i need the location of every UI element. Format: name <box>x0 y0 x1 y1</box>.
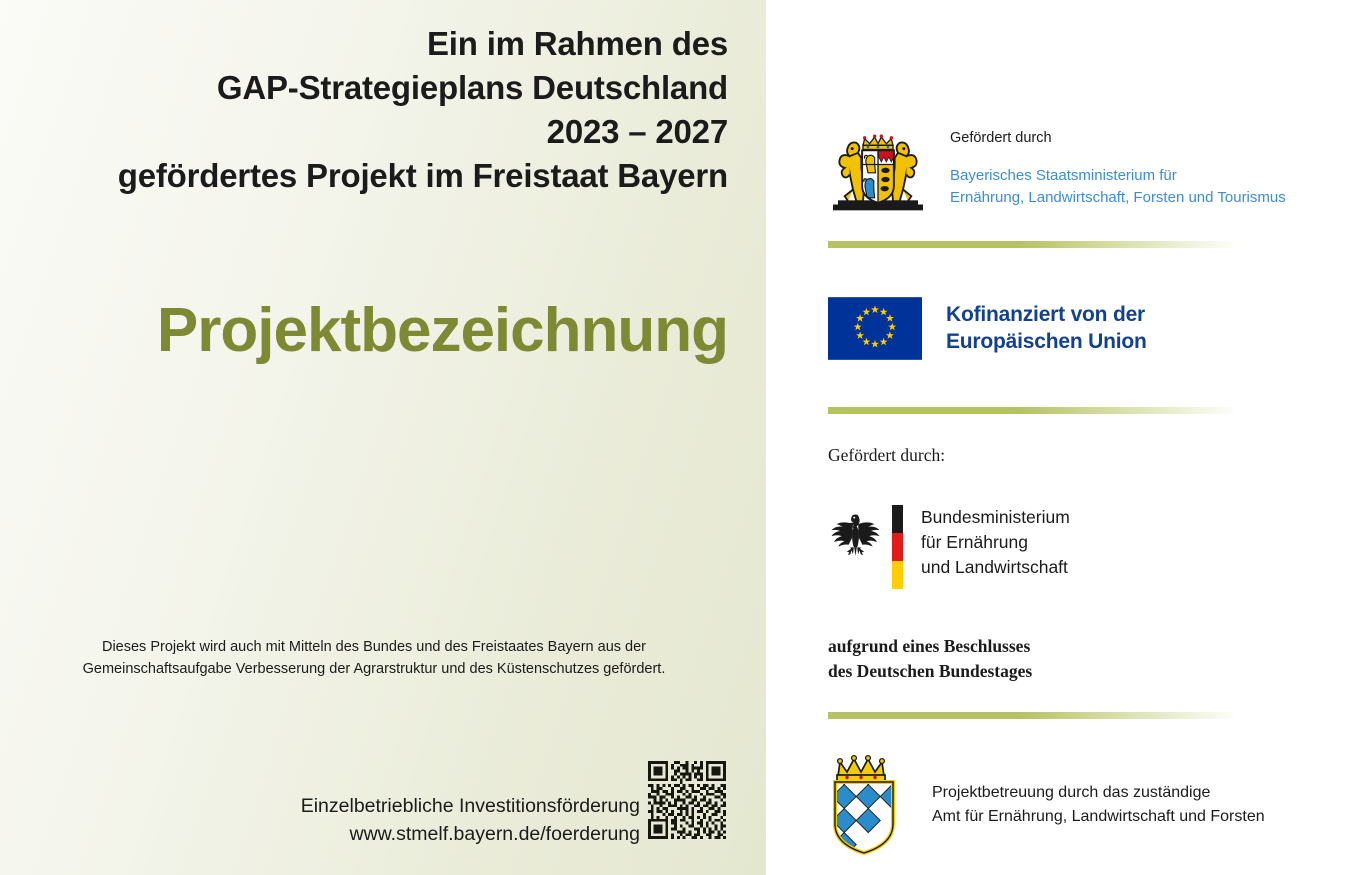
stmelf-name-line-1: Bayerisches Staatsministerium für <box>950 165 1286 186</box>
stmelf-text-group: Gefördert durch Bayerisches Staatsminist… <box>950 128 1286 208</box>
eu-text-line-2: Europäischen Union <box>946 329 1147 355</box>
divider-3 <box>828 712 1240 719</box>
headline-line-3: 2023 – 2027 <box>0 110 728 154</box>
project-title: Projektbezeichnung <box>0 300 728 362</box>
bmel-name-line-2: für Ernährung <box>921 530 1070 555</box>
aelf-text-line-1: Projektbetreuung durch das zuständige <box>932 781 1265 805</box>
divider-1 <box>828 241 1240 248</box>
german-flag-bar <box>892 505 903 589</box>
bmel-name-line-1: Bundesministerium <box>921 505 1070 530</box>
footer-programme-label: Einzelbetriebliche Investitionsförderung <box>0 793 640 821</box>
flag-stripe-black <box>892 505 903 533</box>
stmelf-name-line-2: Ernährung, Landwirtschaft, Forsten und T… <box>950 187 1286 208</box>
bmel-name-group: Bundesministerium für Ernährung und Land… <box>921 505 1070 580</box>
bavarian-state-coat-of-arms <box>828 131 928 213</box>
bavarian-lozenge-shield <box>828 752 900 857</box>
headline-line-1: Ein im Rahmen des <box>0 22 728 66</box>
bmel-logo-group: Bundesministerium für Ernährung und Land… <box>828 505 1070 589</box>
aelf-text-line-2: Amt für Ernährung, Landwirtschaft und Fo… <box>932 805 1265 829</box>
right-panel: Gefördert durch Bayerisches Staatsminist… <box>766 0 1352 875</box>
fineprint-line-1: Dieses Projekt wird auch mit Mitteln des… <box>0 636 748 658</box>
qr-code[interactable] <box>645 758 729 842</box>
bmel-name-line-3: und Landwirtschaft <box>921 555 1070 580</box>
funder-block-bmel: Gefördert durch: <box>828 445 1070 683</box>
stmelf-eyebrow: Gefördert durch <box>950 130 1286 147</box>
bmel-footer-line-1: aufgrund eines Beschlusses <box>828 634 1070 659</box>
federal-eagle-bundesadler <box>828 509 883 565</box>
flag-stripe-red <box>892 533 903 561</box>
aelf-text-group: Projektbetreuung durch das zuständige Am… <box>932 781 1265 829</box>
headline-block: Ein im Rahmen des GAP-Strategieplans Deu… <box>0 22 728 198</box>
bmel-eyebrow: Gefördert durch: <box>828 445 1070 466</box>
footer-text-block: Einzelbetriebliche Investitionsförderung… <box>0 793 640 848</box>
footer-url[interactable]: www.stmelf.bayern.de/foerderung <box>0 821 640 849</box>
european-union-flag <box>828 297 922 360</box>
bmel-footer-line-2: des Deutschen Bundestages <box>828 659 1070 684</box>
headline-line-2: GAP-Strategieplans Deutschland <box>0 66 728 110</box>
divider-2 <box>828 407 1240 414</box>
poster-root: Ein im Rahmen des GAP-Strategieplans Deu… <box>0 0 1352 875</box>
headline-line-4: gefördertes Projekt im Freistaat Bayern <box>0 154 728 198</box>
fineprint-line-2: Gemeinschaftsaufgabe Verbesserung der Ag… <box>0 658 748 680</box>
bmel-footer-group: aufgrund eines Beschlusses des Deutschen… <box>828 634 1070 683</box>
left-panel: Ein im Rahmen des GAP-Strategieplans Deu… <box>0 0 766 875</box>
eu-text-line-1: Kofinanziert von der <box>946 302 1147 328</box>
fineprint-block: Dieses Projekt wird auch mit Mitteln des… <box>0 636 748 681</box>
funder-block-eu: Kofinanziert von der Europäischen Union <box>828 297 1147 360</box>
flag-stripe-gold <box>892 561 903 589</box>
eu-text-group: Kofinanziert von der Europäischen Union <box>946 302 1147 355</box>
funder-block-stmelf: Gefördert durch Bayerisches Staatsminist… <box>828 128 1286 213</box>
stmelf-name: Bayerisches Staatsministerium für Ernähr… <box>950 165 1286 208</box>
funder-block-aelf: Projektbetreuung durch das zuständige Am… <box>828 752 1265 857</box>
